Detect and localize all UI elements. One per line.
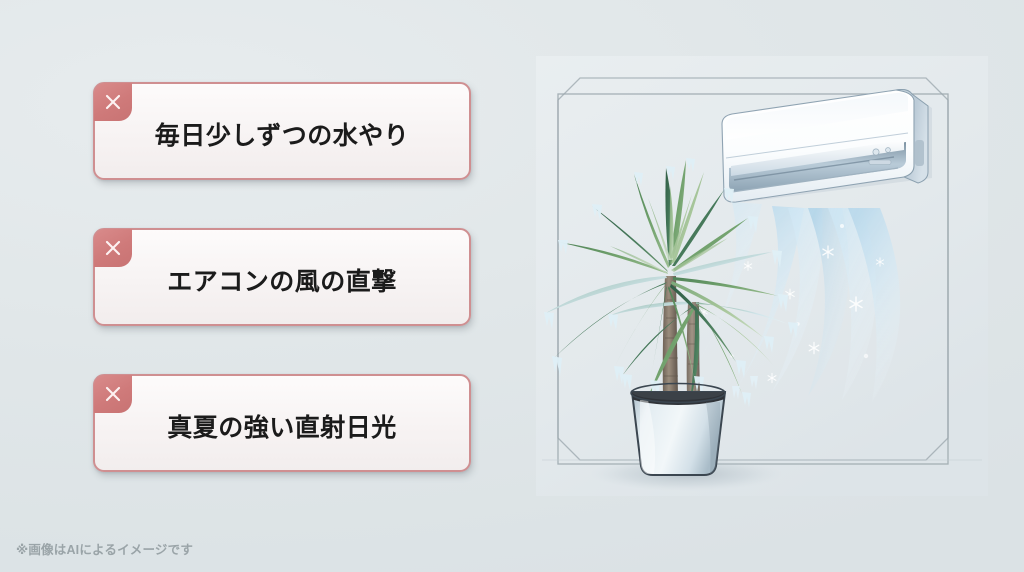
ng-card-label: エアコンの風の直撃 bbox=[95, 262, 469, 298]
slide-canvas: 毎日少しずつの水やり エアコンの風の直撃 真夏の強い直射日光 bbox=[0, 0, 1024, 572]
ng-card-label: 毎日少しずつの水やり bbox=[95, 116, 469, 152]
ng-card[interactable]: エアコンの風の直撃 bbox=[93, 228, 471, 326]
illustration-air-conditioner-blowing-on-houseplant bbox=[536, 56, 988, 496]
illustration-artwork bbox=[536, 56, 988, 496]
plant-pot bbox=[626, 383, 730, 475]
ng-card-label: 真夏の強い直射日光 bbox=[95, 408, 469, 444]
ng-card[interactable]: 毎日少しずつの水やり bbox=[93, 82, 471, 180]
ai-image-disclaimer: ※画像はAIによるイメージです bbox=[16, 539, 193, 558]
ng-card[interactable]: 真夏の強い直射日光 bbox=[93, 374, 471, 472]
ng-card-list: 毎日少しずつの水やり エアコンの風の直撃 真夏の強い直射日光 bbox=[93, 82, 471, 472]
